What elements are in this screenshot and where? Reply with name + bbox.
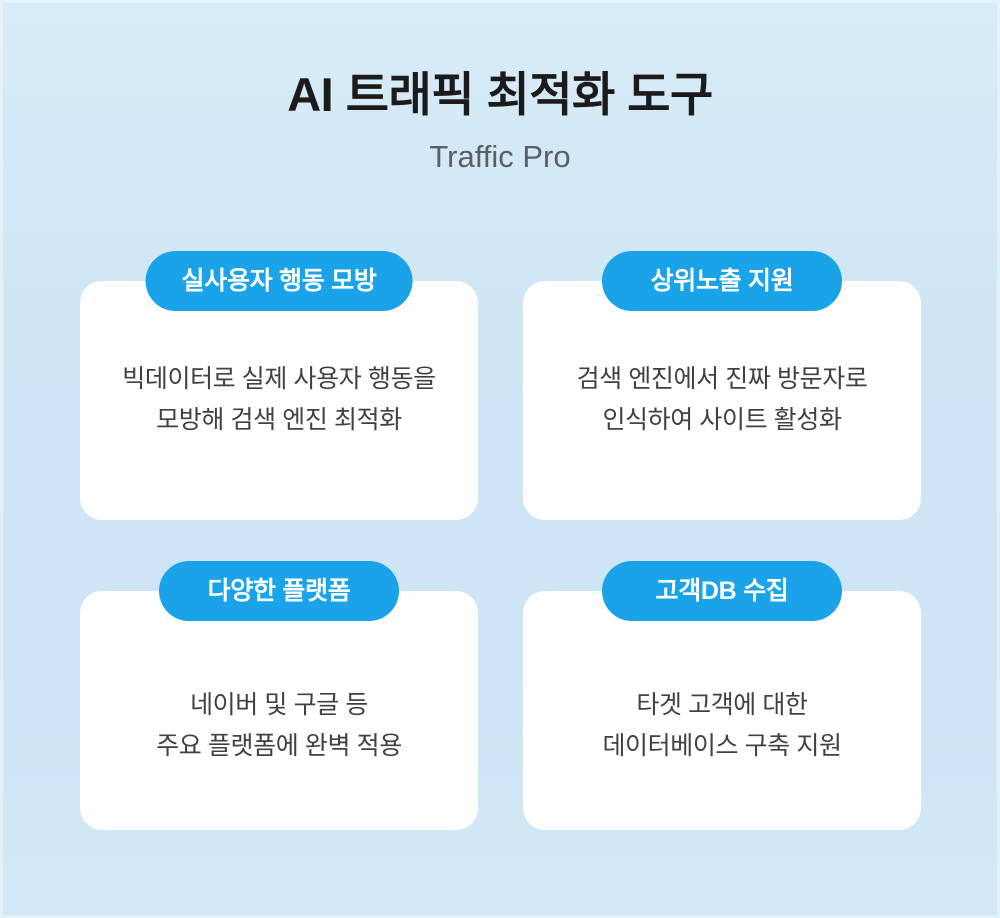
feature-card-line: 네이버 및 구글 등 bbox=[94, 685, 464, 726]
feature-card: 타겟 고객에 대한 데이터베이스 구축 지원 고객DB 수집 bbox=[523, 591, 921, 830]
feature-card-badge: 다양한 플랫폼 bbox=[159, 561, 399, 621]
promo-page: AI 트래픽 최적화 도구 Traffic Pro 빅데이터로 실제 사용자 행… bbox=[0, 0, 1000, 918]
feature-card-panel: 빅데이터로 실제 사용자 행동을 모방해 검색 엔진 최적화 bbox=[80, 281, 478, 520]
feature-card-badge: 실사용자 행동 모방 bbox=[146, 251, 413, 311]
feature-card-line: 인식하여 사이트 활성화 bbox=[537, 400, 907, 441]
feature-card-body: 검색 엔진에서 진짜 방문자로 인식하여 사이트 활성화 bbox=[523, 359, 921, 440]
page-title: AI 트래픽 최적화 도구 bbox=[0, 0, 1000, 122]
feature-card-badge: 상위노출 지원 bbox=[602, 251, 842, 311]
feature-card-badge: 고객DB 수집 bbox=[602, 561, 842, 621]
feature-card-panel: 타겟 고객에 대한 데이터베이스 구축 지원 bbox=[523, 591, 921, 830]
feature-card-badge-label: 고객DB 수집 bbox=[656, 579, 789, 604]
feature-card-panel: 검색 엔진에서 진짜 방문자로 인식하여 사이트 활성화 bbox=[523, 281, 921, 520]
feature-card-badge-label: 실사용자 행동 모방 bbox=[182, 269, 377, 294]
page-header: AI 트래픽 최적화 도구 Traffic Pro bbox=[0, 0, 1000, 175]
feature-card-badge-label: 상위노출 지원 bbox=[651, 269, 794, 294]
feature-card-line: 검색 엔진에서 진짜 방문자로 bbox=[537, 359, 907, 400]
feature-card-body: 빅데이터로 실제 사용자 행동을 모방해 검색 엔진 최적화 bbox=[80, 359, 478, 440]
page-subtitle: Traffic Pro bbox=[0, 122, 1000, 175]
feature-card-body: 네이버 및 구글 등 주요 플랫폼에 완벽 적용 bbox=[80, 685, 478, 766]
feature-card-line: 타겟 고객에 대한 bbox=[537, 685, 907, 726]
feature-card-line: 데이터베이스 구축 지원 bbox=[537, 726, 907, 767]
feature-card-badge-label: 다양한 플랫폼 bbox=[208, 579, 351, 604]
feature-card-line: 모방해 검색 엔진 최적화 bbox=[94, 400, 464, 441]
feature-card: 네이버 및 구글 등 주요 플랫폼에 완벽 적용 다양한 플랫폼 bbox=[80, 591, 478, 830]
feature-card-body: 타겟 고객에 대한 데이터베이스 구축 지원 bbox=[523, 685, 921, 766]
feature-card-grid: 빅데이터로 실제 사용자 행동을 모방해 검색 엔진 최적화 실사용자 행동 모… bbox=[80, 251, 920, 851]
feature-card-line: 주요 플랫폼에 완벽 적용 bbox=[94, 726, 464, 767]
feature-card: 빅데이터로 실제 사용자 행동을 모방해 검색 엔진 최적화 실사용자 행동 모… bbox=[80, 281, 478, 520]
feature-card-panel: 네이버 및 구글 등 주요 플랫폼에 완벽 적용 bbox=[80, 591, 478, 830]
feature-card-line: 빅데이터로 실제 사용자 행동을 bbox=[94, 359, 464, 400]
feature-card: 검색 엔진에서 진짜 방문자로 인식하여 사이트 활성화 상위노출 지원 bbox=[523, 281, 921, 520]
